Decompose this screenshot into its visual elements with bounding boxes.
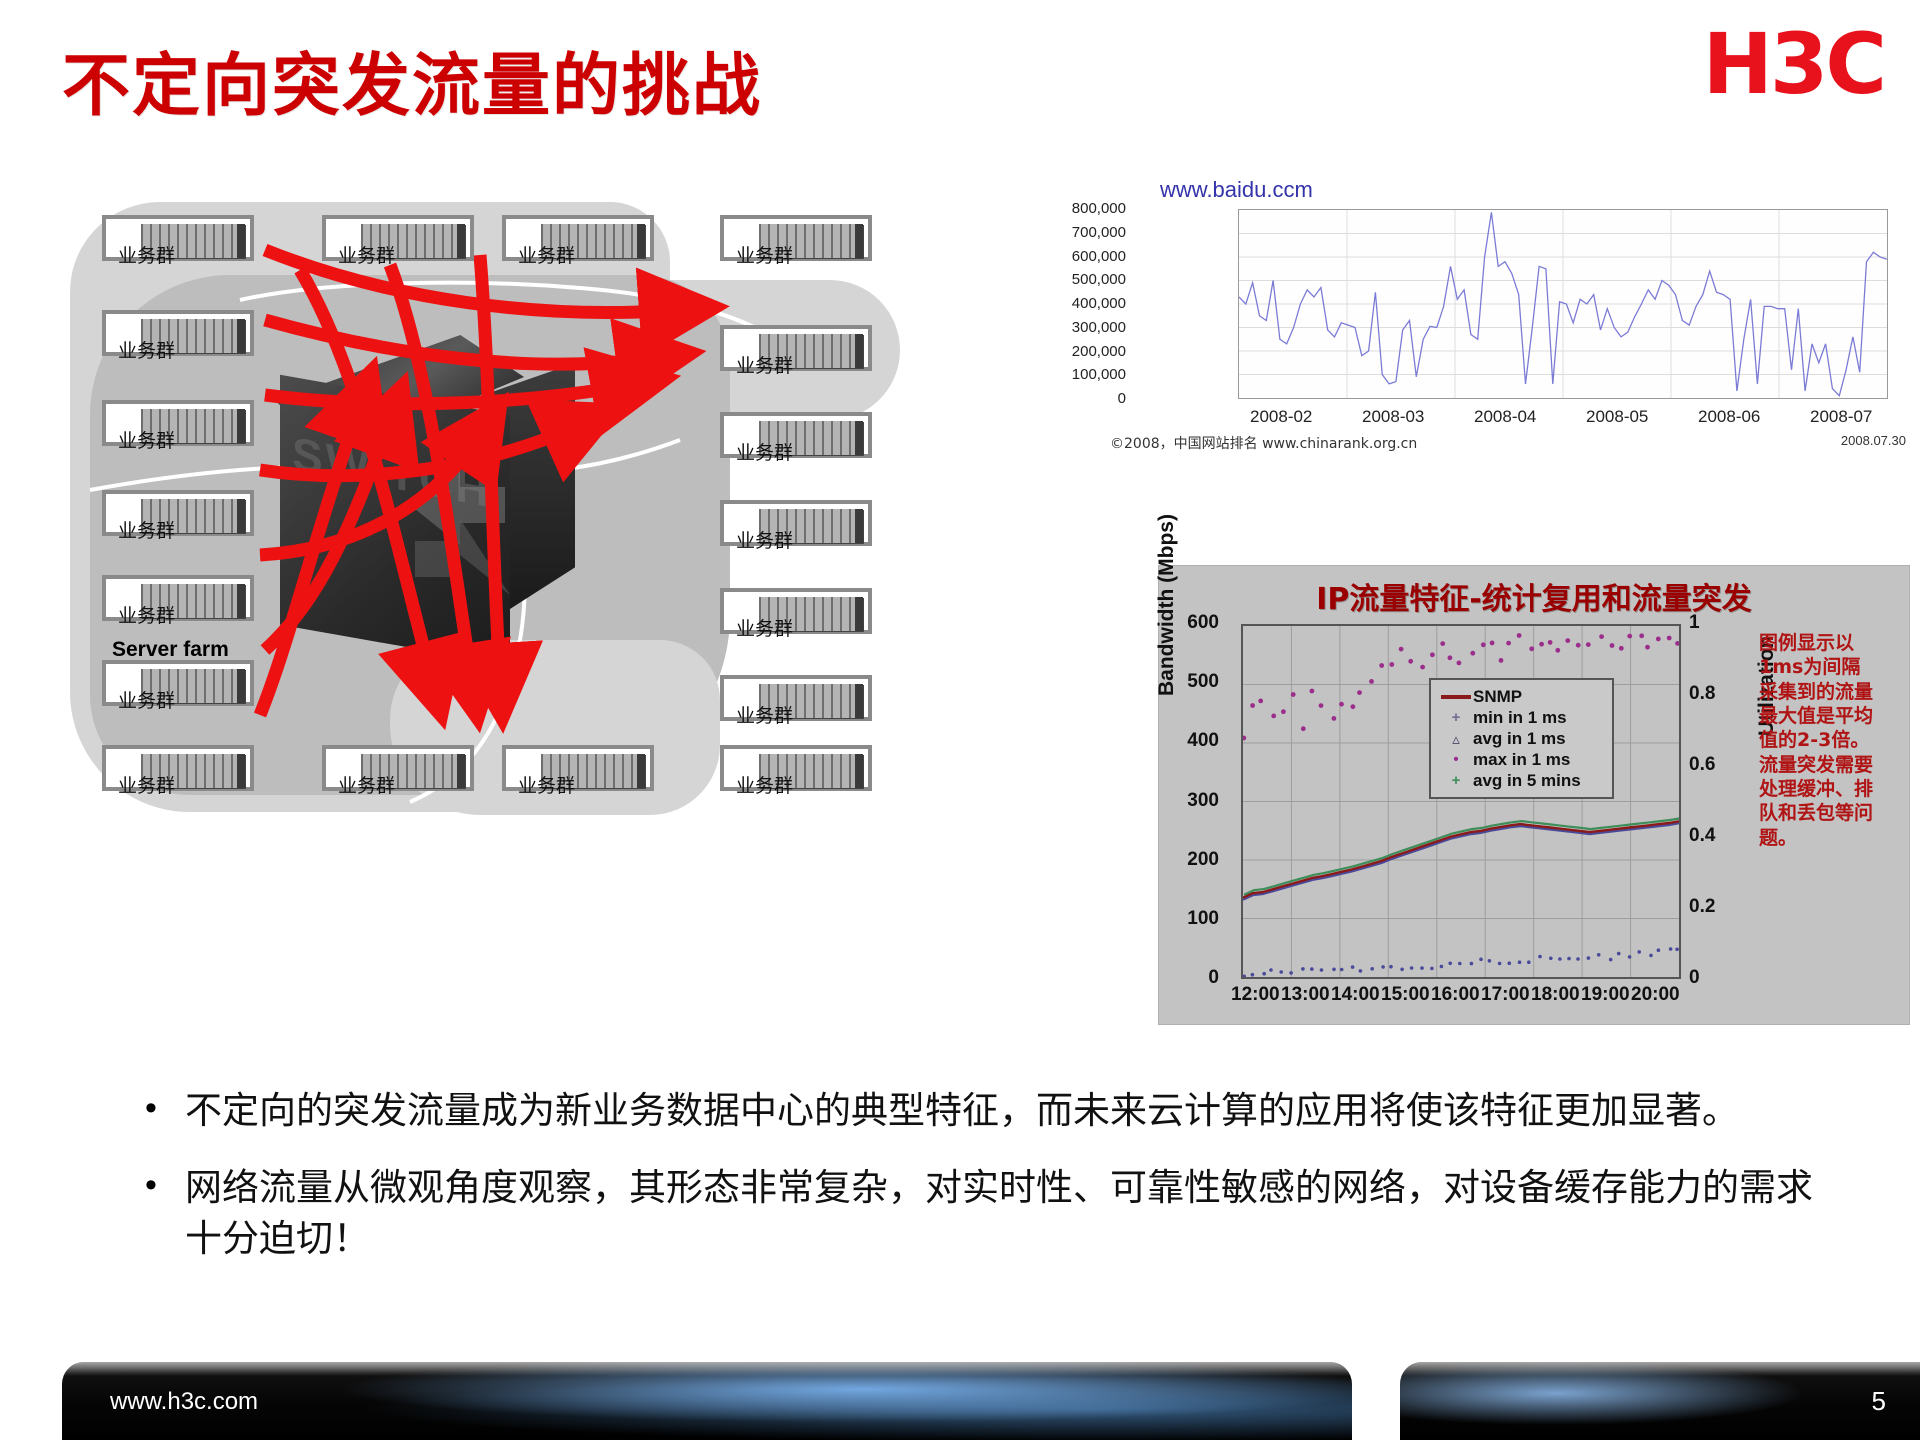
chart2-y2-tick: 0.4 <box>1689 825 1715 847</box>
chart2-legend-item: •max in 1 ms <box>1439 749 1604 770</box>
server-group-box: 业务群 <box>720 675 872 721</box>
chart2-y2-tick: 0.2 <box>1689 896 1715 918</box>
chart2-legend-label: SNMP <box>1473 687 1522 707</box>
server-group-label: 业务群 <box>118 426 175 453</box>
server-group-label: 业务群 <box>736 438 793 465</box>
chart2-y-tick: 500 <box>1187 671 1219 693</box>
page-title: 不定向突发流量的挑战 <box>62 30 762 129</box>
chart2-y-tick: 200 <box>1187 849 1219 871</box>
chart1-y-tick: 800,000 <box>1072 200 1126 217</box>
chart2-legend-marker-icon: + <box>1439 772 1473 789</box>
chart2-x-tick: 13:00 <box>1281 984 1330 1006</box>
server-group-box: 业务群 <box>322 745 474 791</box>
chart1-y-tick: 300,000 <box>1072 319 1126 336</box>
server-group-label: 业务群 <box>736 771 793 798</box>
chart1-x-tick: 2008-07 <box>1810 407 1872 427</box>
bullet-item: •网络流量从微观角度观察，其形态非常复杂，对实时性、可靠性敏感的网络，对设备缓存… <box>145 1162 1845 1264</box>
chart2-y2-tick: 0.8 <box>1689 683 1715 705</box>
server-group-label: 业务群 <box>736 701 793 728</box>
server-farm-label: Server farm <box>112 638 229 662</box>
bullet-marker: • <box>145 1162 185 1264</box>
server-group-box: 业务群 <box>720 745 872 791</box>
chart1-y-tick: 200,000 <box>1072 343 1126 360</box>
chart2-legend-label: avg in 1 ms <box>1473 729 1566 749</box>
server-group-label: 业务群 <box>118 241 175 268</box>
server-group-label: 业务群 <box>736 614 793 641</box>
chart1-x-tick: 2008-04 <box>1474 407 1536 427</box>
server-group-label: 业务群 <box>338 241 395 268</box>
chart2-y-tick: 100 <box>1187 908 1219 930</box>
chart2-legend-label: avg in 5 mins <box>1473 771 1581 791</box>
chart2-y-tick: 0 <box>1208 967 1219 989</box>
chart2-y-tick: 600 <box>1187 612 1219 634</box>
chart1-y-tick: 0 <box>1118 390 1126 407</box>
chart2-legend-label: max in 1 ms <box>1473 750 1570 770</box>
chart2-x-tick: 20:00 <box>1631 984 1680 1006</box>
server-group-label: 业务群 <box>736 351 793 378</box>
chart2-legend-marker-icon: • <box>1439 751 1473 768</box>
footer-right-sheen <box>1400 1362 1920 1376</box>
server-group-box: 业务群 <box>102 490 254 536</box>
server-group-label: 业务群 <box>118 516 175 543</box>
chart2-legend-item: +avg in 5 mins <box>1439 770 1604 791</box>
h3c-logo: H3C <box>1703 22 1884 106</box>
chart2-x-tick: 19:00 <box>1581 984 1630 1006</box>
chart2-legend-marker-icon <box>1439 688 1473 705</box>
server-group-box: 业务群 <box>720 325 872 371</box>
chart1-x-tick: 2008-02 <box>1250 407 1312 427</box>
chart2-y2-tick: 1 <box>1689 612 1700 634</box>
page-number: 5 <box>1872 1386 1886 1417</box>
baidu-traffic-chart: www.baidu.ccm 800,000700,000600,000500,0… <box>1110 175 1910 465</box>
server-group-box: 业务群 <box>720 215 872 261</box>
server-group-box: 业务群 <box>322 215 474 261</box>
server-group-label: 业务群 <box>338 771 395 798</box>
bullet-marker: • <box>145 1085 185 1136</box>
chart1-line-series <box>1239 210 1887 398</box>
chart2-legend-marker-icon: + <box>1439 709 1473 726</box>
chart2-legend-label: min in 1 ms <box>1473 708 1567 728</box>
server-group-box: 业务群 <box>720 412 872 458</box>
server-group-label: 业务群 <box>736 526 793 553</box>
bullet-item: •不定向的突发流量成为新业务数据中心的典型特征，而未来云计算的应用将使该特征更加… <box>145 1085 1845 1136</box>
server-group-label: 业务群 <box>118 771 175 798</box>
chart2-x-tick: 17:00 <box>1481 984 1530 1006</box>
chart1-title: www.baidu.ccm <box>1160 177 1313 203</box>
server-group-label: 业务群 <box>518 771 575 798</box>
chart2-annotation: 图例显示以1ms为间隔采集到的流量最大值是平均值的2-3倍。流量突发需要处理缓冲… <box>1759 631 1879 850</box>
chart2-legend-marker-icon: ▵ <box>1439 730 1473 748</box>
chart1-date-note: 2008.07.30 <box>1841 433 1906 448</box>
chart2-legend: SNMP+min in 1 ms▵avg in 1 ms•max in 1 ms… <box>1429 678 1614 799</box>
chart2-y2-tick: 0 <box>1689 967 1700 989</box>
chart1-x-tick: 2008-05 <box>1586 407 1648 427</box>
server-group-box: 业务群 <box>102 575 254 621</box>
chart2-y2-tick: 0.6 <box>1689 754 1715 776</box>
chart1-y-tick: 400,000 <box>1072 295 1126 312</box>
server-group-box: 业务群 <box>720 500 872 546</box>
chart2-y-tick: 300 <box>1187 790 1219 812</box>
bullet-text: 不定向的突发流量成为新业务数据中心的典型特征，而未来云计算的应用将使该特征更加显… <box>185 1085 1739 1136</box>
server-group-label: 业务群 <box>518 241 575 268</box>
server-group-box: 业务群 <box>102 310 254 356</box>
footer-bar: www.h3c.com <box>62 1362 1352 1440</box>
chart1-plot-area <box>1238 209 1888 399</box>
bullet-list: •不定向的突发流量成为新业务数据中心的典型特征，而未来云计算的应用将使该特征更加… <box>145 1085 1845 1290</box>
server-group-label: 业务群 <box>118 601 175 628</box>
server-group-box: 业务群 <box>102 215 254 261</box>
chart1-x-tick: 2008-03 <box>1362 407 1424 427</box>
chart1-y-tick: 500,000 <box>1072 271 1126 288</box>
server-group-label: 业务群 <box>118 686 175 713</box>
chart2-x-tick: 12:00 <box>1231 984 1280 1006</box>
server-farm-diagram: SWITCH 业务群业务群业务群业务群业务群业务群业务群业务群业务群业务群业务群… <box>60 170 900 870</box>
chart2-x-tick: 16:00 <box>1431 984 1480 1006</box>
chart1-y-tick: 600,000 <box>1072 248 1126 265</box>
chart2-y-axis-title: Bandwidth (Mbps) <box>1155 514 1179 696</box>
chart2-x-tick: 18:00 <box>1531 984 1580 1006</box>
chart2-title: IP流量特征-统计复用和流量突发 <box>1159 574 1909 618</box>
chart1-y-tick: 100,000 <box>1072 366 1126 383</box>
footer-sheen <box>62 1362 1352 1376</box>
chart2-legend-item: ▵avg in 1 ms <box>1439 728 1604 749</box>
server-group-box: 业务群 <box>502 215 654 261</box>
server-group-box: 业务群 <box>720 588 872 634</box>
server-group-label: 业务群 <box>118 336 175 363</box>
footer-right-bar: 5 <box>1400 1362 1920 1440</box>
chart1-source-note: ©2008，中国网站排名 www.chinarank.org.cn <box>1110 433 1417 453</box>
ip-traffic-characteristics-chart: IP流量特征-统计复用和流量突发 Bandwidth (Mbps) Utiliz… <box>1158 565 1910 1025</box>
server-group-box: 业务群 <box>102 400 254 446</box>
chart1-y-tick: 700,000 <box>1072 224 1126 241</box>
chart2-legend-item: SNMP <box>1439 686 1604 707</box>
server-group-box: 业务群 <box>502 745 654 791</box>
server-group-box: 业务群 <box>102 660 254 706</box>
server-group-label: 业务群 <box>736 241 793 268</box>
chart2-x-tick: 15:00 <box>1381 984 1430 1006</box>
server-group-box: 业务群 <box>102 745 254 791</box>
chart1-x-tick: 2008-06 <box>1698 407 1760 427</box>
chart2-x-tick: 14:00 <box>1331 984 1380 1006</box>
bullet-text: 网络流量从微观角度观察，其形态非常复杂，对实时性、可靠性敏感的网络，对设备缓存能… <box>185 1162 1845 1264</box>
footer-url: www.h3c.com <box>110 1388 258 1416</box>
chart2-y-tick: 400 <box>1187 730 1219 752</box>
chart2-legend-item: +min in 1 ms <box>1439 707 1604 728</box>
